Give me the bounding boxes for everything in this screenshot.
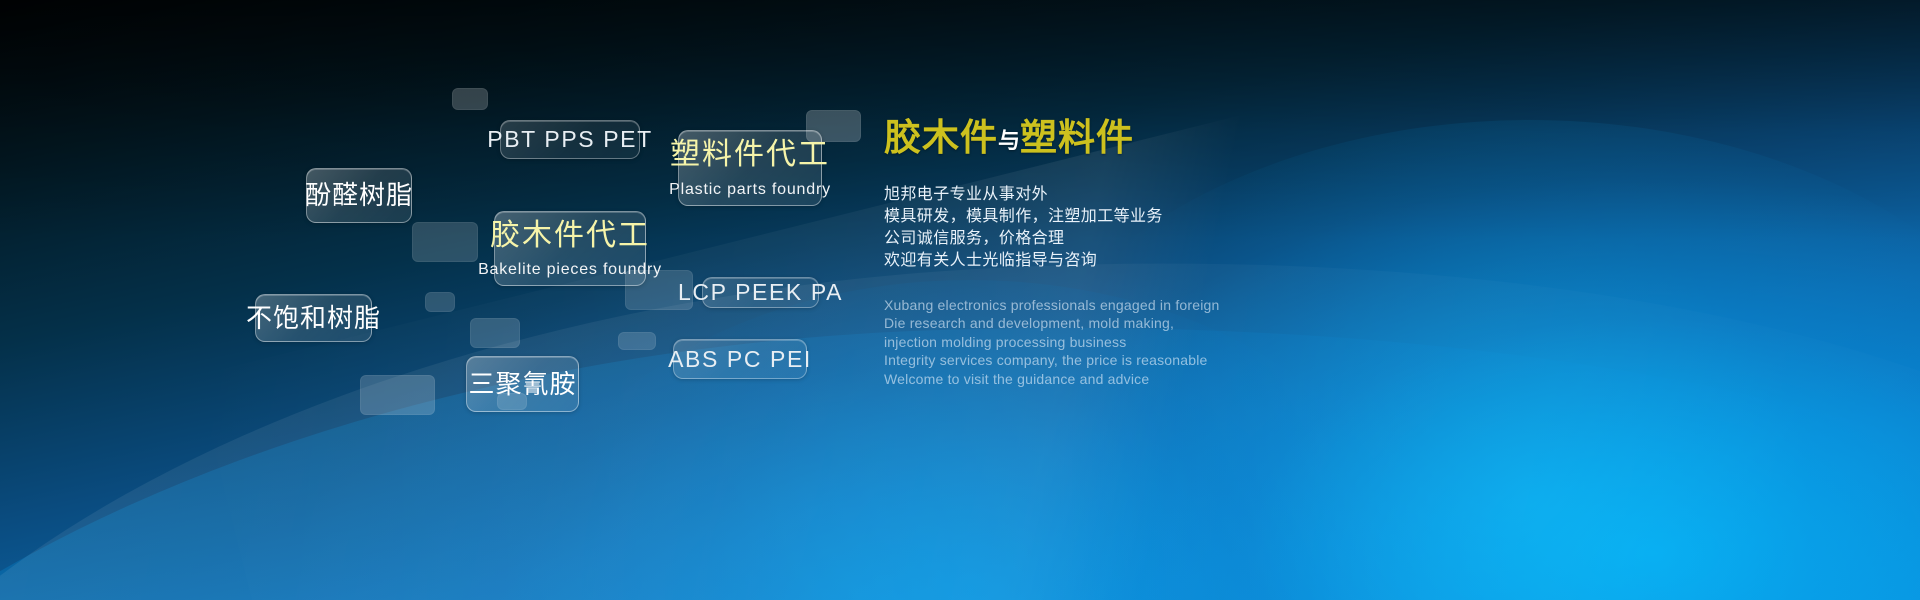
card-plastic-parts-foundry[interactable]: 塑料件代工 Plastic parts foundry	[678, 130, 822, 206]
card-bakelite-pieces-foundry-en: Bakelite pieces foundry	[478, 260, 662, 279]
english-description-line: Welcome to visit the guidance and advice	[884, 370, 1524, 389]
card-lcp-peek-pa[interactable]: LCP PEEK PA	[702, 277, 819, 308]
card-lcp-peek-pa-label: LCP PEEK PA	[678, 279, 843, 306]
headline: 胶木件与塑料件	[884, 118, 1524, 158]
card-pbt-pps-pet-label: PBT PPS PET	[487, 126, 652, 153]
headline-part1: 胶木件	[884, 117, 998, 158]
chinese-description-line: 欢迎有关人士光临指导与咨询	[884, 250, 1524, 272]
card-phenolic-resin-label: 酚醛树脂	[305, 180, 413, 211]
english-description-line: injection molding processing business	[884, 333, 1524, 352]
decorative-square	[470, 318, 520, 348]
english-description-line: Die research and development, mold makin…	[884, 314, 1524, 333]
card-bakelite-pieces-foundry[interactable]: 胶木件代工 Bakelite pieces foundry	[494, 211, 646, 286]
card-melamine[interactable]: 三聚氰胺	[466, 356, 579, 412]
headline-conjunction: 与	[998, 128, 1020, 153]
decorative-square	[618, 332, 656, 350]
card-bakelite-pieces-foundry-cn: 胶木件代工	[490, 218, 650, 253]
hero-banner: 酚醛树脂 PBT PPS PET 塑料件代工 Plastic parts fou…	[0, 0, 1920, 600]
english-description-line: Xubang electronics professionals engaged…	[884, 296, 1524, 315]
chinese-description: 旭邦电子专业从事对外 模具研发，模具制作，注塑加工等业务 公司诚信服务，价格合理…	[884, 184, 1524, 272]
decorative-square	[412, 222, 478, 262]
decorative-square	[360, 375, 435, 415]
card-phenolic-resin[interactable]: 酚醛树脂	[306, 168, 412, 223]
card-abs-pc-pei[interactable]: ABS PC PEI	[673, 339, 807, 379]
chinese-description-line: 旭邦电子专业从事对外	[884, 184, 1524, 206]
banner-copy: 胶木件与塑料件 旭邦电子专业从事对外 模具研发，模具制作，注塑加工等业务 公司诚…	[884, 118, 1524, 388]
english-description-line: Integrity services company, the price is…	[884, 351, 1524, 370]
headline-part2: 塑料件	[1020, 117, 1134, 158]
decorative-square	[452, 88, 488, 110]
card-abs-pc-pei-label: ABS PC PEI	[668, 346, 812, 373]
card-pbt-pps-pet[interactable]: PBT PPS PET	[500, 120, 640, 159]
card-plastic-parts-foundry-en: Plastic parts foundry	[669, 180, 831, 199]
card-unsaturated-resin-label: 不饱和树脂	[246, 303, 381, 334]
chinese-description-line: 公司诚信服务，价格合理	[884, 228, 1524, 250]
card-melamine-label: 三聚氰胺	[468, 369, 576, 400]
chinese-description-line: 模具研发，模具制作，注塑加工等业务	[884, 206, 1524, 228]
card-plastic-parts-foundry-cn: 塑料件代工	[670, 137, 830, 172]
decorative-square	[425, 292, 455, 312]
english-description: Xubang electronics professionals engaged…	[884, 296, 1524, 389]
card-unsaturated-resin[interactable]: 不饱和树脂	[255, 294, 372, 342]
